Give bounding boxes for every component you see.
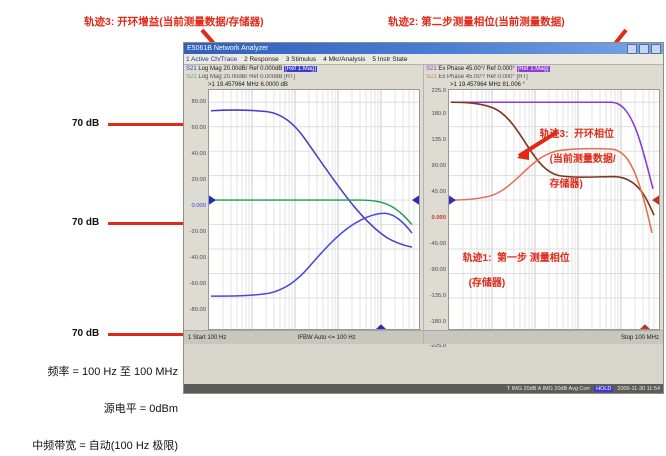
left-series-trace2: [211, 200, 412, 224]
db-arrow-mid: [108, 222, 186, 225]
right-ytick-4: 45.00: [425, 189, 446, 195]
right-marker-left-triangle: [449, 195, 456, 204]
left-start-freq[interactable]: 1 Start 100 Hz: [184, 335, 230, 341]
vna-application-window: E5061B Network Analyzer 1 Active Ch/Trac…: [183, 42, 664, 394]
annotation-trace1-phase-line2: (存储器): [469, 278, 506, 291]
right-bottom-bar: Stop 100 MHz: [424, 330, 663, 344]
left-ytick-5: -20.00: [185, 229, 206, 235]
right-marker-right-triangle: [652, 195, 659, 204]
right-trace1-tag: [Ref 1:Mag]: [517, 66, 550, 72]
left-trace-header: S21 Log Mag 20.00dB/ Ref 0.000dB [Ref 1:…: [184, 65, 423, 81]
window-title: E5061B Network Analyzer: [187, 43, 268, 54]
close-icon[interactable]: [651, 44, 661, 54]
right-trace-header: S21 Ex Phase 45.00°/ Ref 0.000° [Ref 1:M…: [424, 65, 663, 81]
db-label-bottom: 70 dB: [72, 328, 99, 339]
right-ytick-1: 180.0: [425, 111, 446, 117]
trace-panes: S21 Log Mag 20.00dB/ Ref 0.000dB [Ref 1:…: [184, 65, 663, 344]
db-arrow-top: [108, 123, 186, 126]
left-ytick-8: -80.00: [185, 307, 206, 313]
db-label-mid: 70 dB: [72, 217, 99, 228]
annotation-top-right: 轨迹2: 第二步测量相位(当前测量数据): [388, 16, 565, 29]
right-ytick-7: -90.00: [425, 267, 446, 273]
right-trace2-format: Ex Phase 45.00°/ Ref 0.000°: [438, 74, 515, 80]
right-stop-freq[interactable]: Stop 100 MHz: [617, 335, 663, 341]
menu-item-stimulus[interactable]: 3 Stimulus: [286, 56, 316, 63]
right-ytick-6: -45.00: [425, 241, 446, 247]
menu-item-active-ch-trace[interactable]: 1 Active Ch/Trace: [186, 56, 237, 63]
left-chart-svg: [209, 90, 419, 329]
left-bottom-bar: 1 Start 100 Hz IFBW Auto <= 100 Hz: [184, 330, 423, 344]
menu-item-instr-state[interactable]: 5 Instr State: [372, 56, 407, 63]
pane-phase[interactable]: S21 Ex Phase 45.00°/ Ref 0.000° [Ref 1:M…: [423, 65, 663, 344]
minimize-icon[interactable]: [627, 44, 637, 54]
left-marker-left-triangle: [209, 195, 216, 204]
left-ytick-7: -60.00: [185, 281, 206, 287]
measurement-spec: 频率 = 100 Hz 至 100 MHz 源电平 = 0dBm 中频带宽 = …: [0, 344, 178, 456]
right-trace-row-1[interactable]: S21 Ex Phase 45.00°/ Ref 0.000° [Ref 1:M…: [426, 66, 661, 74]
right-ytick-5: 0.000: [425, 215, 446, 221]
left-series-trace3: [211, 110, 412, 247]
spec-source-level: 源电平 = 0dBm: [104, 403, 178, 415]
status-text: T IMG 20dB A IMG 20dB Avg Corr: [507, 386, 590, 392]
status-hold-badge[interactable]: HOLD: [594, 386, 613, 392]
right-marker-readout: >1 19.457964 MHz 81.006 °: [424, 81, 663, 89]
left-grid[interactable]: [208, 89, 420, 330]
left-trace2-channel: S21: [186, 74, 197, 80]
status-bar: T IMG 20dB A IMG 20dB Avg Corr HOLD 2006…: [184, 384, 663, 393]
left-trace2-format: Log Mag 20.00dB/ Ref 0.000dB: [198, 74, 282, 80]
annotation-trace1-phase: 轨迹1: 第一步 测量相位 (存储器): [457, 240, 570, 290]
left-trace-row-2[interactable]: S21 Log Mag 20.00dB/ Ref 0.000dB [RT]: [186, 74, 421, 82]
right-trace2-tag: [RT]: [517, 74, 528, 80]
menu-item-response[interactable]: 2 Response: [244, 56, 279, 63]
status-datetime: 2006-11-30 11:54: [617, 386, 660, 392]
menu-bar[interactable]: 1 Active Ch/Trace 2 Response 3 Stimulus …: [184, 54, 663, 65]
right-trace1-format: Ex Phase 45.00°/ Ref 0.000°: [438, 66, 515, 72]
pointer-trace3-phase: [505, 130, 561, 162]
annotation-trace1-phase-line1: 轨迹1: 第一步 测量相位: [463, 253, 570, 264]
left-ytick-0: 80.00: [185, 99, 206, 105]
right-ytick-2: 135.0: [425, 137, 446, 143]
left-marker-right-triangle: [412, 195, 419, 204]
right-trace2-channel: S21: [426, 74, 437, 80]
left-trace2-tag: [RT]: [284, 74, 295, 80]
window-controls[interactable]: [627, 44, 663, 54]
left-trace1-channel: S21: [186, 66, 197, 72]
right-trace1-channel: S21: [426, 66, 437, 72]
left-plot-area: 80.00 60.00 40.00 20.00 0.000 -20.00 -40…: [184, 89, 423, 330]
left-trace1-format: Log Mag 20.00dB/ Ref 0.000dB: [198, 66, 282, 72]
left-ytick-3: 20.00: [185, 177, 206, 183]
right-ytick-3: 90.00: [425, 163, 446, 169]
left-ytick-2: 40.00: [185, 151, 206, 157]
left-ytick-1: 60.00: [185, 125, 206, 131]
left-ytick-6: -40.00: [185, 255, 206, 261]
window-titlebar: E5061B Network Analyzer: [184, 43, 663, 54]
left-trace-row-1[interactable]: S21 Log Mag 20.00dB/ Ref 0.000dB [Ref 1:…: [186, 66, 421, 74]
right-trace-row-2[interactable]: S21 Ex Phase 45.00°/ Ref 0.000° [RT]: [426, 74, 661, 82]
spec-ifbw: 中频带宽 = 自动(100 Hz 极限): [32, 440, 178, 452]
spec-frequency: 频率 = 100 Hz 至 100 MHz: [47, 366, 178, 378]
left-marker-readout: >1 19.457964 MHz 6.0000 dB: [184, 81, 423, 89]
maximize-icon[interactable]: [639, 44, 649, 54]
db-label-top: 70 dB: [72, 118, 99, 129]
left-ifbw[interactable]: IFBW Auto <= 100 Hz: [294, 335, 360, 341]
right-ytick-8: -135.0: [425, 293, 446, 299]
left-trace1-tag: [Ref 1:Mag]: [284, 66, 317, 72]
left-ytick-4: 0.000: [185, 203, 206, 209]
left-series-trace1: [211, 213, 412, 296]
db-arrow-bottom: [108, 333, 186, 336]
right-ytick-9: -180.0: [425, 319, 446, 325]
annotation-trace3-phase-line3: 存储器): [550, 179, 583, 192]
right-ytick-0: 225.0: [425, 88, 446, 94]
menu-item-mkr-analysis[interactable]: 4 Mkr/Analysis: [323, 56, 365, 63]
pane-magnitude[interactable]: S21 Log Mag 20.00dB/ Ref 0.000dB [Ref 1:…: [184, 65, 423, 344]
